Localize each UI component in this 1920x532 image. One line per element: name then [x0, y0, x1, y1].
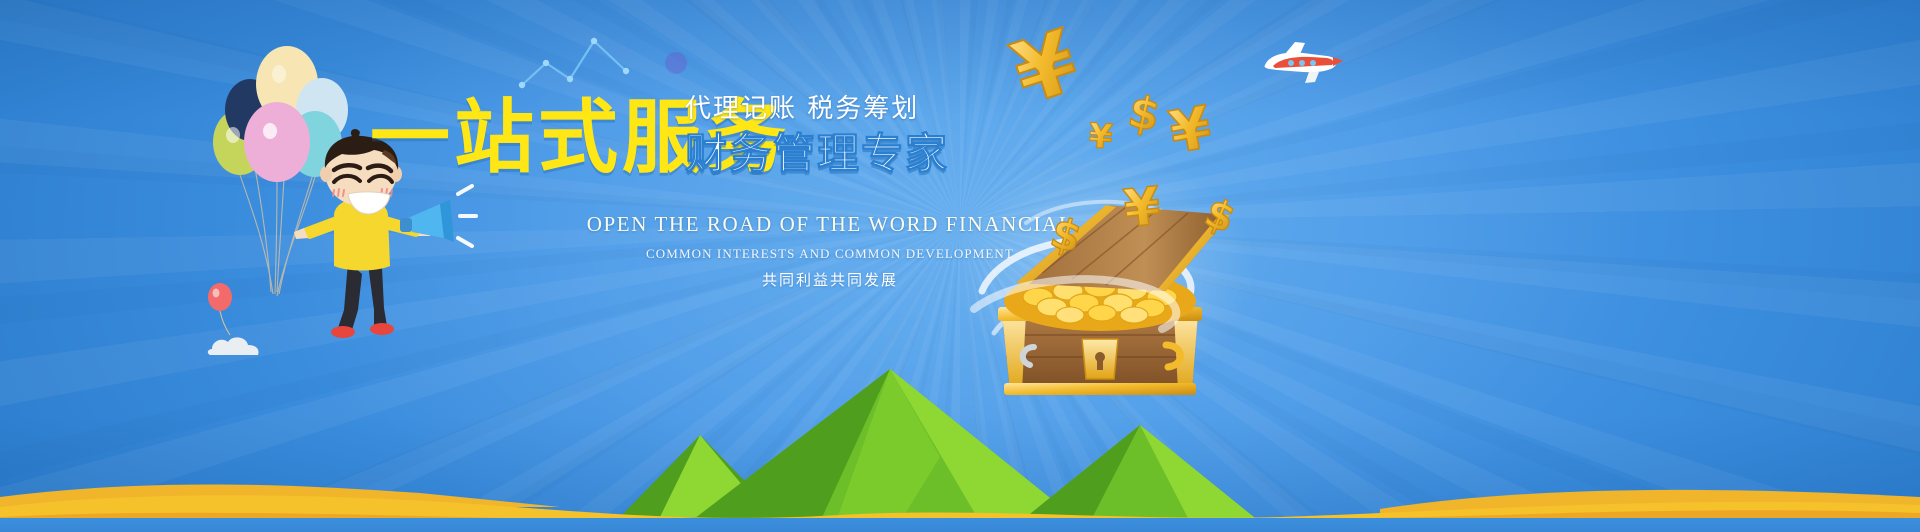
airplane-icon	[1255, 35, 1335, 85]
mini-balloon-with-cloud	[200, 283, 280, 358]
sparkline-icon	[520, 35, 630, 90]
svg-text:¥: ¥	[1087, 116, 1114, 158]
scenery-footer	[0, 357, 1920, 532]
treasure-chest-icon: ¥ $ ¥ $ ¥ $ ¥	[930, 95, 1250, 395]
svg-text:¥: ¥	[1121, 176, 1163, 239]
svg-text:¥: ¥	[1165, 93, 1217, 167]
mountain-range-icon	[0, 357, 1920, 532]
water-strip	[0, 518, 1920, 532]
svg-text:$: $	[1124, 86, 1165, 142]
promo-banner: 一站式服务 代理记账 税务筹划 财务管理专家 OPEN THE ROAD OF …	[0, 0, 1920, 532]
decorative-dot	[665, 52, 687, 74]
